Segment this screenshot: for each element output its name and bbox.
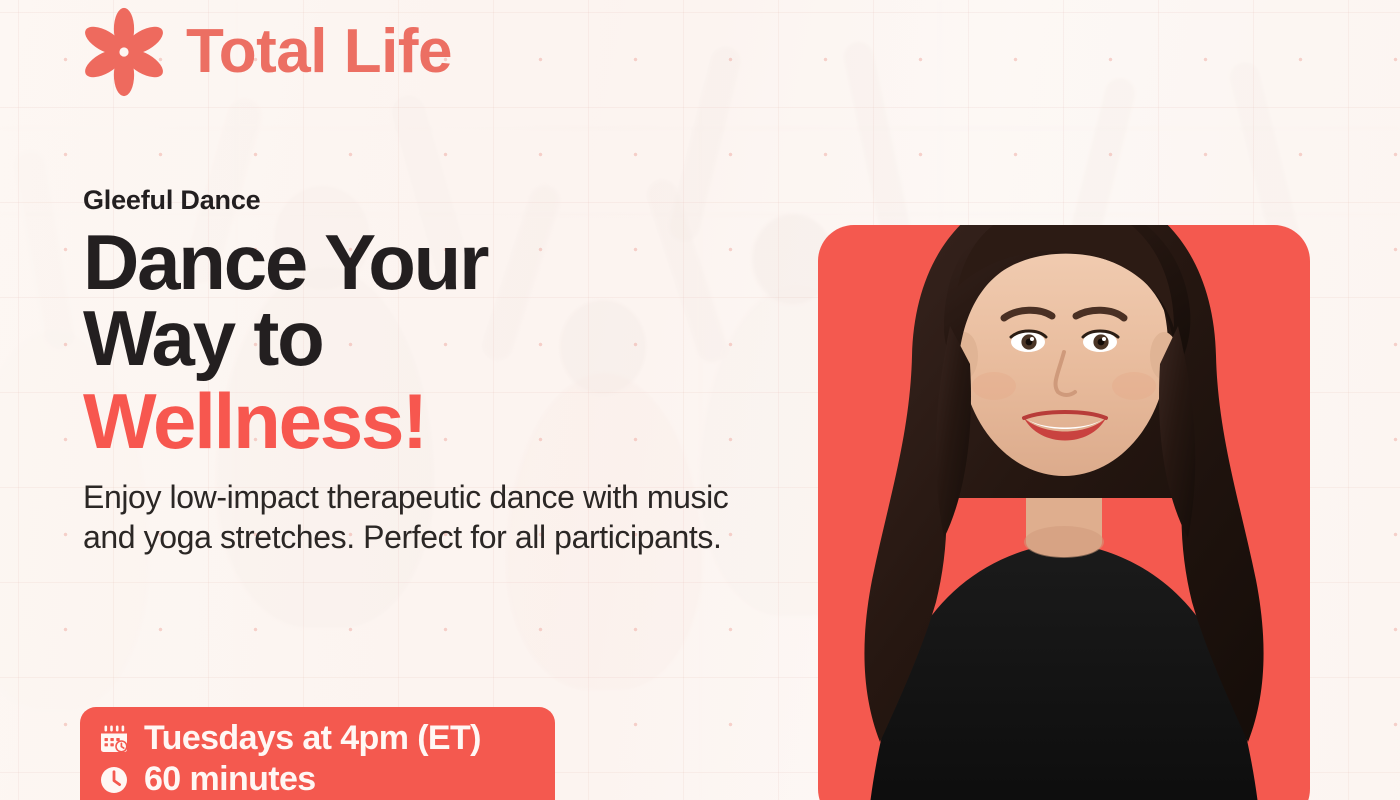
schedule-when-row: Tuesdays at 4pm (ET) xyxy=(98,719,535,758)
description-text: Enjoy low-impact therapeutic dance with … xyxy=(83,477,773,558)
calendar-clock-icon xyxy=(98,723,130,755)
instructor-portrait xyxy=(818,150,1310,800)
headline-line-2: Way to xyxy=(83,294,323,382)
schedule-when-label: Tuesdays at 4pm (ET) xyxy=(144,719,481,758)
schedule-badge: Tuesdays at 4pm (ET) 60 minutes xyxy=(80,707,555,800)
page-title: Dance Your Way to Wellness! xyxy=(83,224,783,459)
program-eyebrow: Gleeful Dance xyxy=(83,186,783,216)
clock-icon xyxy=(98,764,130,796)
schedule-duration-label: 60 minutes xyxy=(144,760,316,799)
instructor-portrait-illustration xyxy=(818,150,1310,800)
promotional-banner: Total Life Gleeful Dance Dance Your Way … xyxy=(0,0,1400,800)
headline-line-1: Dance Your xyxy=(83,218,487,306)
six-petal-flower-icon xyxy=(78,6,170,98)
brand-wordmark: Total Life xyxy=(186,21,452,83)
headline-line-3: Wellness! xyxy=(83,383,783,459)
copy-block: Gleeful Dance Dance Your Way to Wellness… xyxy=(83,186,783,558)
schedule-duration-row: 60 minutes xyxy=(98,760,535,799)
brand-logo[interactable]: Total Life xyxy=(78,6,452,98)
